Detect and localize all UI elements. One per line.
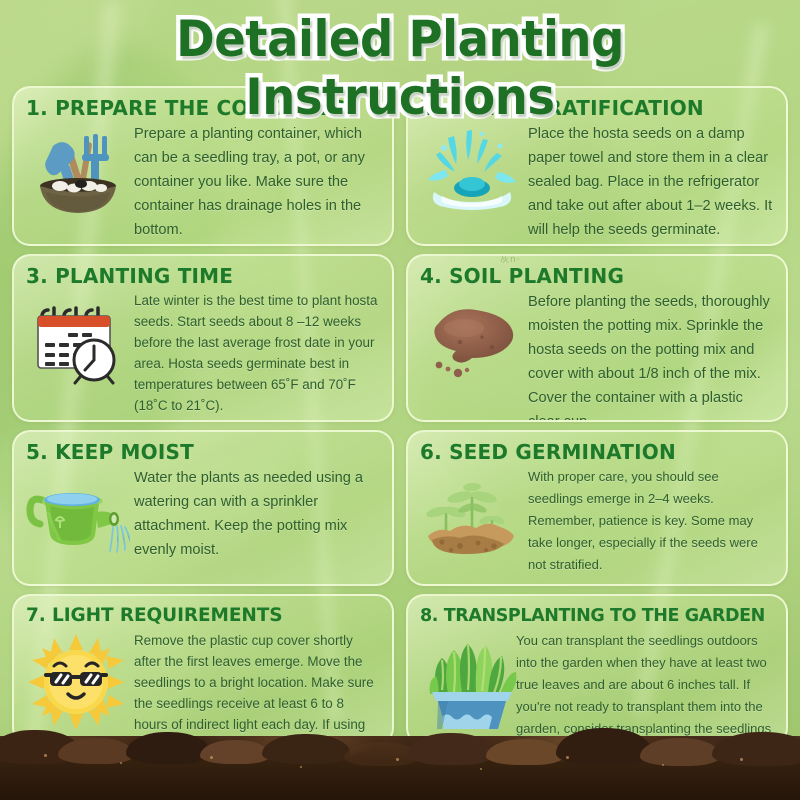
instruction-card-6[interactable]: 6. SEED GERMINATION (406, 430, 788, 586)
instruction-card-grid: 1. PREPARE THE CONTAINER (12, 86, 788, 746)
card-8-title: 8. TRANSPLANTING TO THE GARDEN (420, 604, 774, 628)
card-7-title: 7. LIGHT REQUIREMENTS (26, 604, 380, 628)
water-splash-icon (420, 124, 524, 224)
soil-speck (120, 762, 122, 764)
card-4-title: 4. SOIL PLANTING (420, 264, 774, 288)
soil-photo-strip (0, 722, 800, 800)
soil-clump (486, 739, 564, 765)
soil-clump (200, 740, 270, 764)
trowel-fork-bowl-icon (26, 124, 130, 224)
card-4-text: Before planting the seeds, thoroughly mo… (528, 290, 774, 422)
soil-clump (640, 738, 720, 766)
soil-speck (396, 758, 399, 761)
card-6-title: 6. SEED GERMINATION (420, 440, 774, 464)
potted-hosta-icon (420, 632, 524, 732)
instruction-card-3[interactable]: 3. PLANTING TIME (12, 254, 394, 422)
soil-mound-icon (420, 292, 524, 392)
infographic-poster: Detailed Planting Instructions 1. PREPAR… (0, 0, 800, 800)
soil-clump (126, 732, 210, 764)
poster-title-wrap: Detailed Planting Instructions (0, 8, 800, 128)
soil-clump (58, 738, 134, 764)
card-3-body: Late winter is the best time to plant ho… (26, 290, 380, 414)
card-3-title: 3. PLANTING TIME (26, 264, 380, 288)
card-2-body: Place the hosta seeds on a damp paper to… (420, 122, 774, 238)
soil-clump (408, 733, 494, 765)
card-6-body: With proper care, you should see seedlin… (420, 466, 774, 578)
soil-clump (344, 742, 418, 766)
soil-speck (44, 754, 47, 757)
card-1-text: Prepare a planting container, which can … (134, 122, 380, 242)
card-5-text: Water the plants as needed using a water… (134, 466, 380, 562)
page-title: Detailed Planting Instructions (28, 8, 772, 128)
soil-clump (556, 728, 652, 766)
instruction-card-4[interactable]: 4. SOIL PLANTING 灰n· (406, 254, 788, 422)
card-4-body: Before planting the seeds, thoroughly mo… (420, 290, 774, 414)
instruction-card-5[interactable]: 5. KEEP MOIST (12, 430, 394, 586)
card-1-body: Prepare a planting container, which can … (26, 122, 380, 238)
sun-sunglasses-icon (26, 632, 130, 732)
watering-can-icon (26, 468, 130, 568)
card-5-title: 5. KEEP MOIST (26, 440, 380, 464)
soil-speck (300, 766, 302, 768)
card-5-body: Water the plants as needed using a water… (26, 466, 380, 578)
card-6-text: With proper care, you should see seedlin… (528, 466, 774, 576)
soil-speck (210, 756, 213, 759)
calendar-clock-icon (26, 292, 130, 392)
soil-speck (740, 758, 743, 761)
soil-speck (480, 768, 482, 770)
soil-clump (262, 734, 350, 764)
card-3-text: Late winter is the best time to plant ho… (134, 290, 380, 416)
seedlings-sprouting-icon (420, 468, 524, 568)
soil-speck (566, 756, 569, 759)
soil-speck (662, 764, 664, 766)
card-2-text: Place the hosta seeds on a damp paper to… (528, 122, 774, 242)
